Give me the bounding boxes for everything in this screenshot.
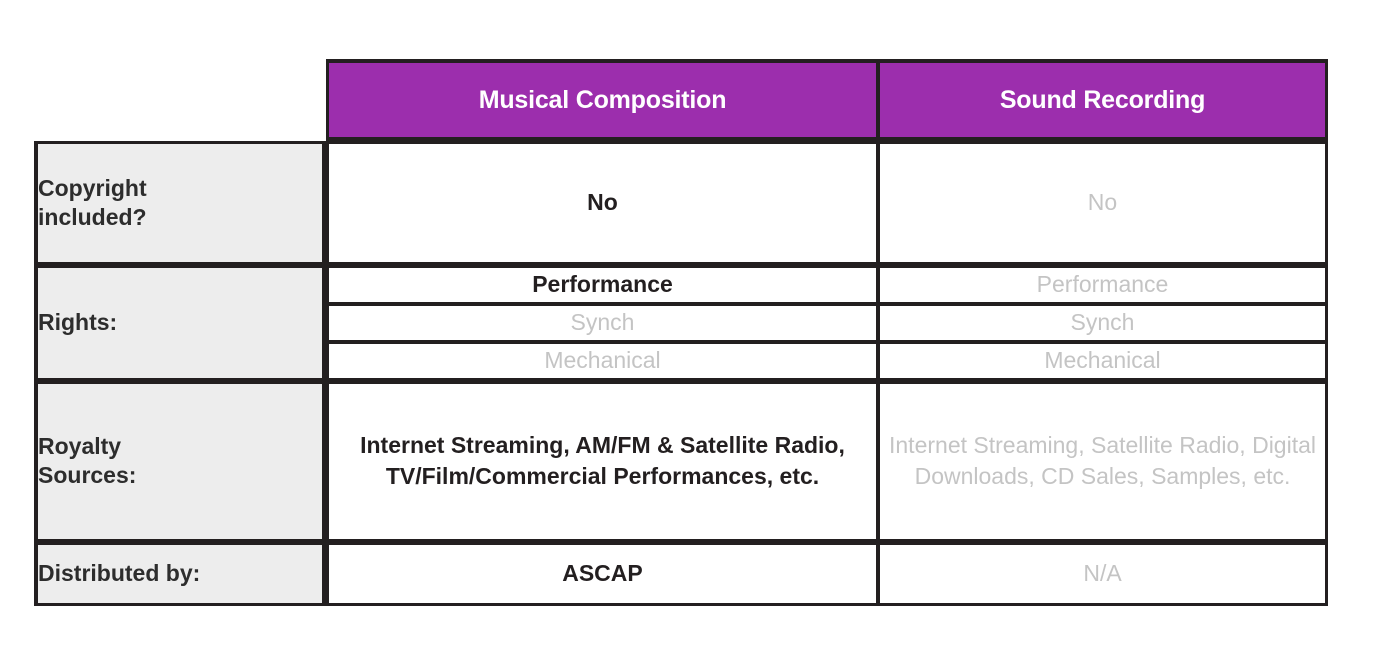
column-header-musical-composition: Musical Composition [326, 59, 878, 141]
table-row-rights-performance: Rights: Performance Performance [34, 265, 1328, 304]
cell-rights-synch-sound-recording: Synch [878, 304, 1328, 342]
cell-royalty-sources-musical-composition: Internet Streaming, AM/FM & Satellite Ra… [326, 381, 878, 542]
row-label-text: Rights: [38, 309, 117, 335]
cell-rights-mechanical-sound-recording: Mechanical [878, 342, 1328, 381]
row-label-copyright-included: Copyright included? [34, 141, 326, 265]
cell-royalty-sources-sound-recording: Internet Streaming, Satellite Radio, Dig… [878, 381, 1328, 542]
cell-rights-mechanical-musical-composition: Mechanical [326, 342, 878, 381]
cell-copyright-sound-recording: No [878, 141, 1328, 265]
row-label-line-1: Royalty [38, 433, 121, 459]
cell-copyright-musical-composition: No [326, 141, 878, 265]
table-row-distributed-by: Distributed by: ASCAP N/A [34, 542, 1328, 606]
cell-distributed-by-sound-recording: N/A [878, 542, 1328, 606]
table-row-royalty-sources: Royalty Sources: Internet Streaming, AM/… [34, 381, 1328, 542]
row-label-line-1: Copyright [38, 175, 147, 201]
table-row-copyright-included: Copyright included? No No [34, 141, 1328, 265]
cell-rights-performance-musical-composition: Performance [326, 265, 878, 304]
row-label-line-2: included? [38, 204, 147, 230]
row-label-royalty-sources: Royalty Sources: [34, 381, 326, 542]
page-root: Musical Composition Sound Recording Copy… [0, 0, 1378, 668]
cell-rights-performance-sound-recording: Performance [878, 265, 1328, 304]
row-label-line-2: Sources: [38, 462, 136, 488]
row-label-rights: Rights: [34, 265, 326, 381]
column-header-sound-recording: Sound Recording [878, 59, 1328, 141]
cell-distributed-by-musical-composition: ASCAP [326, 542, 878, 606]
header-row: Musical Composition Sound Recording [34, 59, 1328, 141]
table-header: Musical Composition Sound Recording [34, 59, 1328, 141]
table-body: Copyright included? No No Rights: Perfor… [34, 141, 1328, 606]
row-label-text: Distributed by: [38, 560, 200, 586]
cell-rights-synch-musical-composition: Synch [326, 304, 878, 342]
header-corner-empty [34, 59, 326, 141]
comparison-table: Musical Composition Sound Recording Copy… [34, 59, 1328, 606]
row-label-distributed-by: Distributed by: [34, 542, 326, 606]
